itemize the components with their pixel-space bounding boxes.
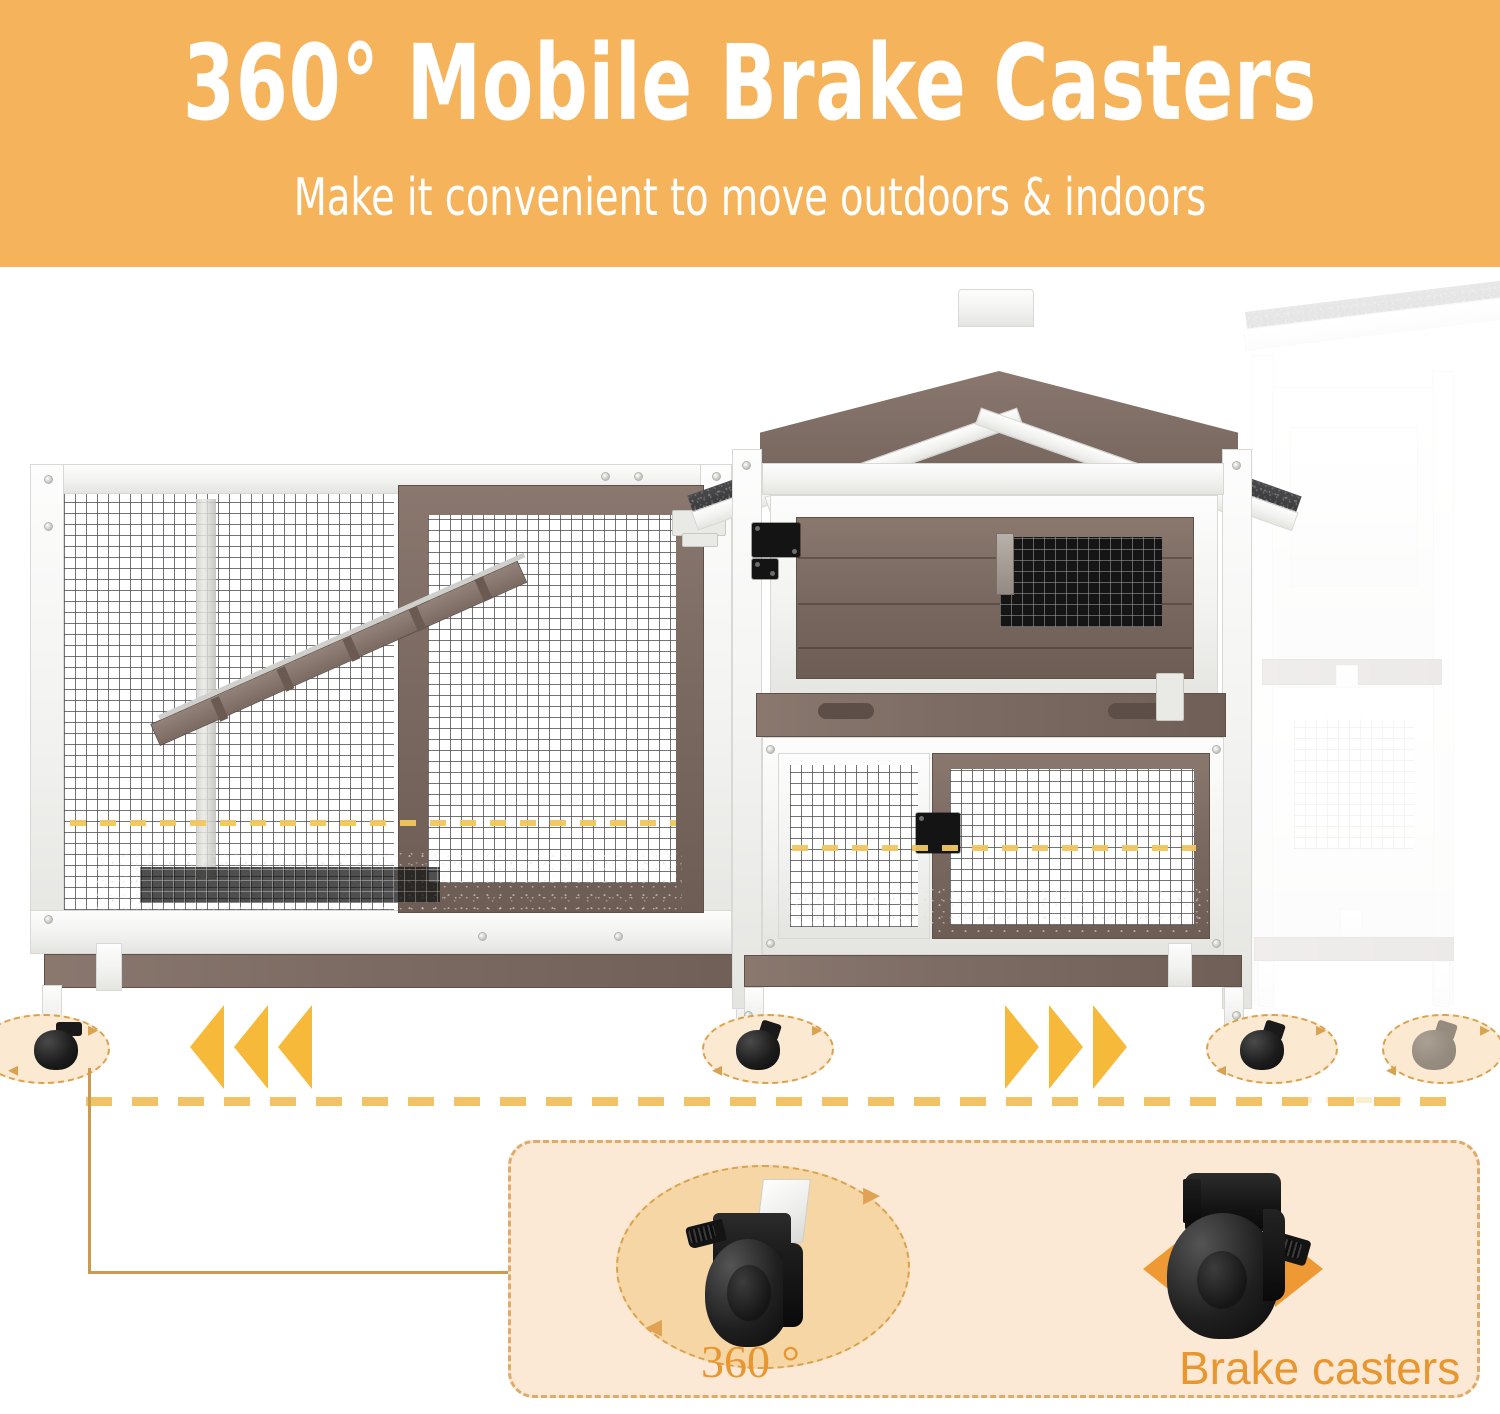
page-title: 360° Mobile Brake Casters: [150, 24, 1350, 144]
ghost-post-right: [1432, 371, 1454, 1005]
screw-run-3: [44, 915, 53, 924]
run-base-rail: [44, 954, 756, 988]
ghost-upper-door: [1290, 427, 1418, 587]
brake-caster-fork: [1263, 1209, 1285, 1301]
screw-hutch-1: [742, 461, 751, 470]
caster-2[interactable]: [736, 1022, 788, 1070]
page-subtitle: Make it convenient to move outdoors & in…: [135, 168, 1365, 228]
upper-door-handle[interactable]: [996, 533, 1014, 595]
swivel-caster-hub: [727, 1265, 771, 1321]
run-left-post: [30, 464, 64, 954]
brake-caster-stem: [1183, 1179, 1201, 1223]
screw-run-4: [601, 472, 610, 481]
upper-door-seam-3: [798, 647, 1192, 649]
chevron-left-2: [234, 1005, 268, 1089]
caster-1-wheel: [34, 1030, 78, 1070]
caster-4[interactable]: [1412, 1022, 1464, 1070]
screw-run-5: [634, 472, 643, 481]
screw-run-6: [712, 472, 721, 481]
caster-2-rotation-arrow-start: ▸: [812, 1020, 822, 1040]
run-floor-mesh: [140, 867, 440, 903]
move-right-chevrons: [1005, 1005, 1127, 1089]
screw-run-2: [44, 522, 53, 531]
upper-door-vent-window: [1000, 537, 1162, 627]
run-bottom-rail: [30, 910, 732, 954]
callout-connector-horizontal: [88, 1271, 512, 1274]
header-banner: 360° Mobile Brake Casters Make it conven…: [0, 0, 1500, 267]
caster-2-rotation-arrow-end: ◂: [712, 1060, 722, 1080]
ghost-base-rail: [1254, 937, 1454, 961]
brake-caster-image: [1153, 1169, 1343, 1361]
chevron-right-1: [1005, 1005, 1039, 1089]
move-left-chevrons: [190, 1005, 312, 1089]
mid-shelf-latch[interactable]: [1156, 673, 1184, 721]
run-door-latch-keeper[interactable]: [682, 533, 718, 547]
brake-caster-hub: [1197, 1251, 1247, 1309]
pullout-tray-grip-left[interactable]: [818, 703, 874, 719]
chevron-right-3: [1093, 1005, 1127, 1089]
screw-hutch-5: [766, 745, 775, 754]
caster-3-rotation-arrow-end: ◂: [1216, 1060, 1226, 1080]
chevron-left-1: [190, 1005, 224, 1089]
caster-2-wheel: [736, 1030, 780, 1070]
run-door-mesh: [428, 515, 676, 883]
hutch-right-post: [1222, 449, 1252, 1009]
chevron-right-2: [1049, 1005, 1083, 1089]
caster-4-rotation-arrow-end: ◂: [1386, 1060, 1396, 1080]
screw-run-8: [614, 932, 623, 941]
infographic-root: 360° Mobile Brake Casters Make it conven…: [0, 0, 1500, 1414]
screw-hutch-6: [1212, 745, 1221, 754]
caster-1-rotation-arrow-start: ▸: [88, 1020, 98, 1040]
swivel-rotation-arrow-top: ▸: [863, 1177, 880, 1211]
swivel-caster-image: [679, 1179, 859, 1361]
caster-4-wheel: [1412, 1030, 1456, 1070]
caster-3-wheel: [1240, 1030, 1284, 1070]
brake-caster-label: Brake casters: [1179, 1341, 1460, 1395]
screw-hutch-7: [766, 939, 775, 948]
swivel-rotation-arrow-bottom: ◂: [645, 1309, 662, 1343]
ghost-lower-mesh: [1294, 719, 1414, 849]
lower-yellow-strip: [792, 845, 1196, 851]
caster-1-rotation-arrow-end: ◂: [8, 1060, 18, 1080]
chevron-left-3: [278, 1005, 312, 1089]
run-bracket-left: [96, 943, 122, 991]
swivel-caster-fork: [783, 1243, 803, 1327]
roof-ridge-cap: [958, 289, 1034, 327]
caster-detail-callout: ▸ ◂ 360 ° Brake casters: [508, 1140, 1480, 1398]
screw-run-7: [478, 932, 487, 941]
screw-hutch-8: [1212, 939, 1221, 948]
swivel-label: 360 °: [701, 1335, 800, 1388]
caster-row: ▸ ◂ ▸ ◂ ▸ ◂ ▸ ◂: [0, 1000, 1500, 1110]
hutch-upper-band: [762, 463, 1224, 495]
screw-run-1: [44, 475, 53, 484]
run-yellow-strip: [70, 820, 676, 826]
hutch-bracket-right: [1168, 943, 1192, 987]
caster-1[interactable]: [34, 1022, 86, 1070]
lower-floor-tray: [782, 887, 1208, 933]
product-illustration: [0, 267, 1500, 1027]
upper-door-hinge-top[interactable]: [752, 523, 800, 557]
caster-4-rotation-arrow-start: ▸: [1480, 1020, 1490, 1040]
caster-3-rotation-arrow-start: ▸: [1316, 1020, 1326, 1040]
callout-connector-vertical: [88, 1068, 91, 1274]
upper-door-hinge-bottom[interactable]: [752, 559, 778, 579]
ground-dashed-line: [86, 1097, 1446, 1106]
screw-hutch-2: [1232, 461, 1241, 470]
caster-3[interactable]: [1240, 1022, 1292, 1070]
